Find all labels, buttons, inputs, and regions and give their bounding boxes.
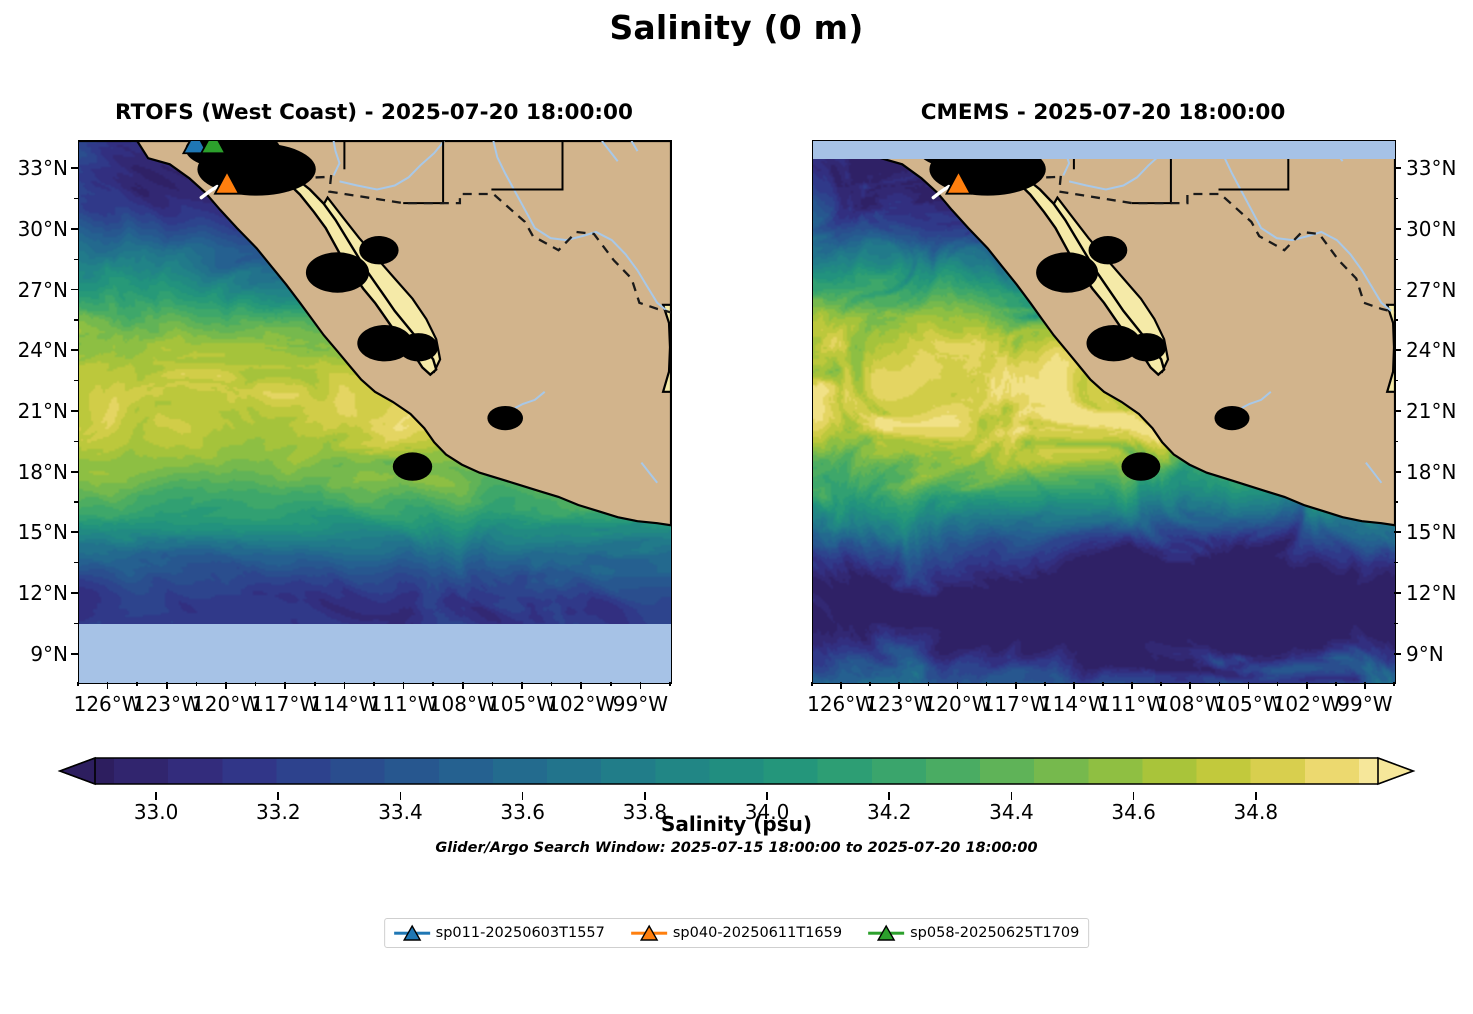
ytick-24: [71, 349, 78, 351]
ytick-label-24: 24°N: [0, 338, 68, 362]
xtick--114: [1073, 682, 1075, 689]
ytick-12: [71, 592, 78, 594]
xtick-minor: [1277, 682, 1279, 686]
xtick-minor: [669, 682, 671, 686]
xtick--99: [1364, 682, 1366, 689]
ytick-label-30: 30°N: [1406, 217, 1456, 241]
xtick-minor: [1335, 682, 1337, 686]
xtick--102: [1306, 682, 1308, 689]
xtick-minor: [869, 682, 871, 686]
ytick-9: [1394, 653, 1401, 655]
xtick--126: [107, 682, 109, 689]
xtick--108: [1189, 682, 1191, 689]
xtick-minor: [551, 682, 553, 686]
ytick-label-9: 9°N: [1406, 642, 1444, 666]
ytick-minor: [1394, 562, 1398, 564]
island-3: [1036, 252, 1098, 292]
ytick-30: [71, 228, 78, 230]
ytick-minor: [74, 198, 78, 200]
colorbar-gradient: [60, 758, 1413, 784]
colorbar-tick-33.6: [522, 792, 524, 800]
colorbar-extend-min: [60, 758, 95, 784]
xtick--120: [225, 682, 227, 689]
ytick-label-21: 21°N: [1406, 399, 1456, 423]
legend-label-1: sp040-20250611T1659: [673, 925, 842, 941]
ytick-minor: [74, 319, 78, 321]
xtick-label--99: 99°W: [595, 692, 685, 716]
ytick-33: [71, 167, 78, 169]
island-8: [359, 236, 398, 264]
colorbar-tick-34.8: [1255, 792, 1257, 800]
xtick-minor: [77, 682, 79, 686]
ytick-minor: [1394, 259, 1398, 261]
island-6: [1122, 452, 1161, 480]
ytick-label-12: 12°N: [0, 581, 68, 605]
legend-item-2[interactable]: sp058-20250625T1709: [868, 925, 1079, 941]
legend-triangle-icon-1: [638, 923, 660, 943]
xtick-minor: [373, 682, 375, 686]
island-8: [1089, 236, 1128, 264]
legend-marker-1: [631, 932, 667, 935]
ytick-27: [71, 289, 78, 291]
ytick-label-33: 33°N: [0, 156, 68, 180]
nodata-band-south: [79, 624, 671, 683]
xtick-minor: [1044, 682, 1046, 686]
xtick-minor: [610, 682, 612, 686]
ytick-21: [71, 410, 78, 412]
xtick-label--99: 99°W: [1320, 692, 1410, 716]
ytick-label-12: 12°N: [1406, 581, 1456, 605]
xtick--105: [1248, 682, 1250, 689]
ytick-minor: [1394, 441, 1398, 443]
ytick-label-18: 18°N: [0, 460, 68, 484]
ytick-minor: [74, 562, 78, 564]
xtick--123: [166, 682, 168, 689]
nodata-band-north: [813, 141, 1395, 159]
panel-title-rtofs: RTOFS (West Coast) - 2025-07-20 18:00:00: [78, 100, 670, 125]
xtick--114: [344, 682, 346, 689]
ytick-label-9: 9°N: [0, 642, 68, 666]
ytick-minor: [74, 259, 78, 261]
ytick-label-27: 27°N: [1406, 278, 1456, 302]
ytick-18: [71, 471, 78, 473]
colorbar-extend-max: [1378, 758, 1413, 784]
ytick-15: [71, 531, 78, 533]
ytick-minor: [74, 380, 78, 382]
ytick-label-18: 18°N: [1406, 460, 1456, 484]
ytick-minor: [1394, 501, 1398, 503]
ytick-minor: [74, 623, 78, 625]
colorbar-title: Salinity (psu): [0, 812, 1473, 836]
xtick--99: [640, 682, 642, 689]
colorbar-tick-33.0: [155, 792, 157, 800]
legend-label-0: sp011-20250603T1557: [436, 925, 605, 941]
xtick-minor: [811, 682, 813, 686]
xtick--105: [521, 682, 523, 689]
ytick-label-24: 24°N: [1406, 338, 1456, 362]
xtick-minor: [492, 682, 494, 686]
ytick-9: [71, 653, 78, 655]
xtick-minor: [928, 682, 930, 686]
island-6: [393, 452, 432, 480]
ytick-minor: [74, 501, 78, 503]
ytick-label-15: 15°N: [0, 520, 68, 544]
colorbar-tick-33.8: [644, 792, 646, 800]
ytick-30: [1394, 228, 1401, 230]
colorbar-tick-34.0: [766, 792, 768, 800]
ytick-21: [1394, 410, 1401, 412]
legend-item-1[interactable]: sp040-20250611T1659: [631, 925, 842, 941]
ytick-33: [1394, 167, 1401, 169]
island-7: [487, 406, 523, 430]
island-7: [1215, 406, 1250, 430]
colorbar-tick-34.4: [1011, 792, 1013, 800]
legend-item-0[interactable]: sp011-20250603T1557: [394, 925, 605, 941]
island-5: [1127, 333, 1166, 361]
xtick-minor: [1102, 682, 1104, 686]
xtick-minor: [255, 682, 257, 686]
xtick-minor: [1393, 682, 1395, 686]
panel-title-cmems: CMEMS - 2025-07-20 18:00:00: [812, 100, 1394, 125]
legend-triangle-icon-0: [401, 923, 423, 943]
ytick-label-33: 33°N: [1406, 156, 1456, 180]
colorbar-tick-33.2: [277, 792, 279, 800]
map-panel-cmems[interactable]: [812, 140, 1396, 684]
xtick--126: [840, 682, 842, 689]
ytick-minor: [74, 441, 78, 443]
xtick-minor: [136, 682, 138, 686]
xtick--117: [284, 682, 286, 689]
ytick-18: [1394, 471, 1401, 473]
colorbar: 33.033.233.433.633.834.034.234.434.634.8: [0, 752, 1473, 792]
island-5: [399, 333, 438, 361]
xtick-minor: [196, 682, 198, 686]
xtick-minor: [1219, 682, 1221, 686]
ytick-minor: [1394, 623, 1398, 625]
glider-legend: sp011-20250603T1557sp040-20250611T1659sp…: [384, 918, 1090, 948]
xtick--123: [898, 682, 900, 689]
colorbar-tick-34.2: [888, 792, 890, 800]
xtick--111: [1131, 682, 1133, 689]
ytick-minor: [1394, 198, 1398, 200]
ytick-27: [1394, 289, 1401, 291]
colorbar-tick-33.4: [400, 792, 402, 800]
figure-title: Salinity (0 m): [0, 8, 1473, 47]
ytick-label-21: 21°N: [0, 399, 68, 423]
ytick-15: [1394, 531, 1401, 533]
ytick-24: [1394, 349, 1401, 351]
legend-triangle-icon-2: [875, 923, 897, 943]
xtick--108: [462, 682, 464, 689]
xtick--102: [580, 682, 582, 689]
map-overlay-cmems: [813, 141, 1395, 683]
ytick-minor: [1394, 319, 1398, 321]
colorbar-svg: [0, 752, 1473, 792]
xtick--111: [403, 682, 405, 689]
xtick-minor: [314, 682, 316, 686]
ytick-label-27: 27°N: [0, 278, 68, 302]
ytick-label-30: 30°N: [0, 217, 68, 241]
map-overlay-rtofs: [79, 141, 671, 683]
xtick-minor: [986, 682, 988, 686]
xtick-minor: [1160, 682, 1162, 686]
xtick--120: [957, 682, 959, 689]
legend-label-2: sp058-20250625T1709: [910, 925, 1079, 941]
legend-marker-0: [394, 932, 430, 935]
ytick-label-15: 15°N: [1406, 520, 1456, 544]
legend-marker-2: [868, 932, 904, 935]
xtick-minor: [432, 682, 434, 686]
search-window-annotation: Glider/Argo Search Window: 2025-07-15 18…: [0, 840, 1473, 856]
ytick-12: [1394, 592, 1401, 594]
map-panel-rtofs[interactable]: [78, 140, 672, 684]
island-3: [306, 252, 369, 292]
ytick-minor: [1394, 380, 1398, 382]
xtick--117: [1015, 682, 1017, 689]
colorbar-tick-34.6: [1133, 792, 1135, 800]
